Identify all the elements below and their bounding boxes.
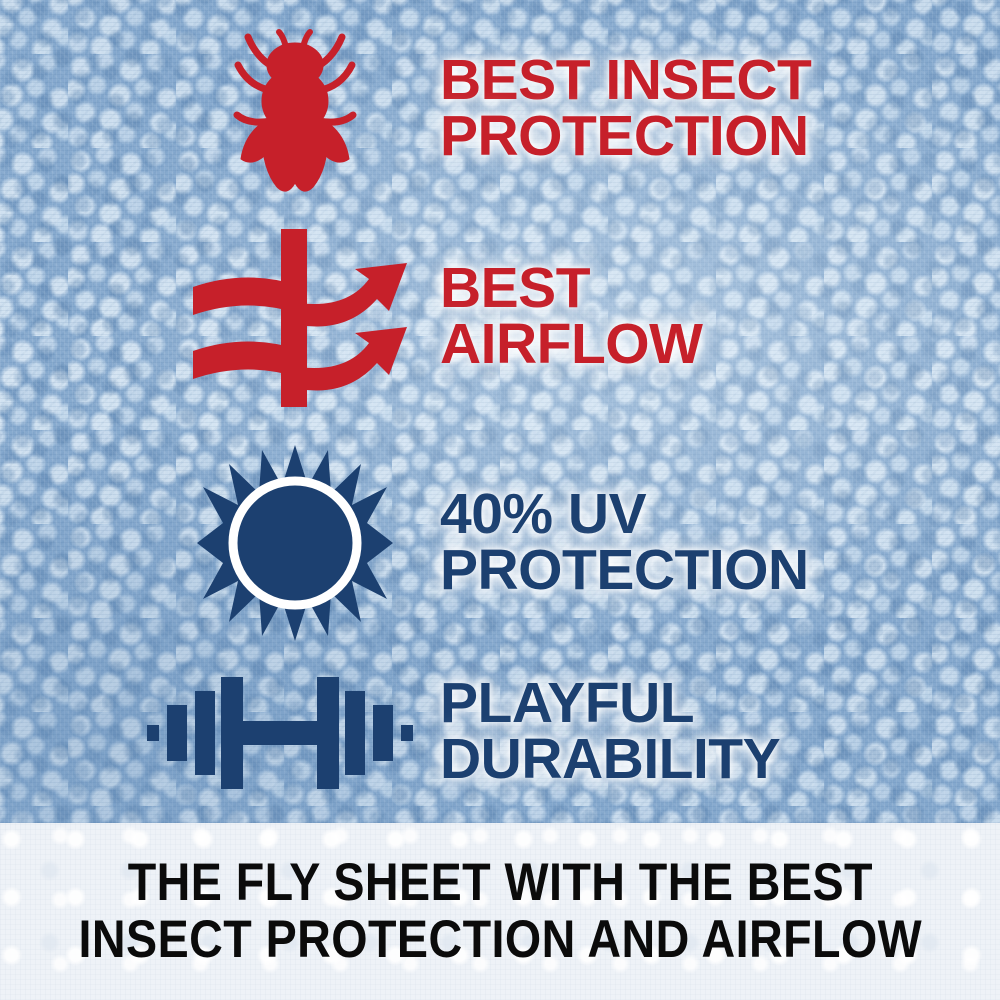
feature-headline-uv-protection: 40% UV PROTECTION — [440, 487, 809, 599]
feature-row-insect-protection: BEST INSECT PROTECTION — [150, 14, 1000, 204]
feature-text-cell-airflow: BEST AIRFLOW — [440, 261, 702, 373]
feature-text-cell-uv-protection: 40% UV PROTECTION — [440, 487, 809, 599]
fly-icon — [215, 17, 375, 202]
caption-headline: THE FLY SHEET WITH THE BEST INSECT PROTE… — [78, 855, 922, 967]
feature-icon-uv-protection — [150, 438, 440, 648]
feature-text-cell-insect-protection: BEST INSECT PROTECTION — [440, 53, 811, 165]
feature-text-cell-durability: PLAYFUL DURABILITY — [440, 676, 780, 788]
feature-row-airflow: BEST AIRFLOW — [150, 222, 1000, 412]
sun-icon — [195, 443, 395, 643]
dumbbell-icon — [145, 667, 415, 797]
feature-row-uv-protection: 40% UV PROTECTION — [150, 438, 1000, 648]
feature-icon-insect-protection — [150, 14, 440, 204]
product-feature-poster: BEST INSECT PROTECTION — [0, 0, 1000, 1000]
airflow-arrows-icon — [185, 225, 405, 410]
feature-headline-durability: PLAYFUL DURABILITY — [440, 676, 780, 788]
feature-icon-durability — [120, 657, 440, 807]
feature-headline-insect-protection: BEST INSECT PROTECTION — [440, 53, 811, 165]
feature-icon-airflow — [150, 222, 440, 412]
caption-band: THE FLY SHEET WITH THE BEST INSECT PROTE… — [0, 823, 1000, 1000]
feature-headline-airflow: BEST AIRFLOW — [440, 261, 702, 373]
feature-row-durability: PLAYFUL DURABILITY — [120, 652, 1000, 812]
